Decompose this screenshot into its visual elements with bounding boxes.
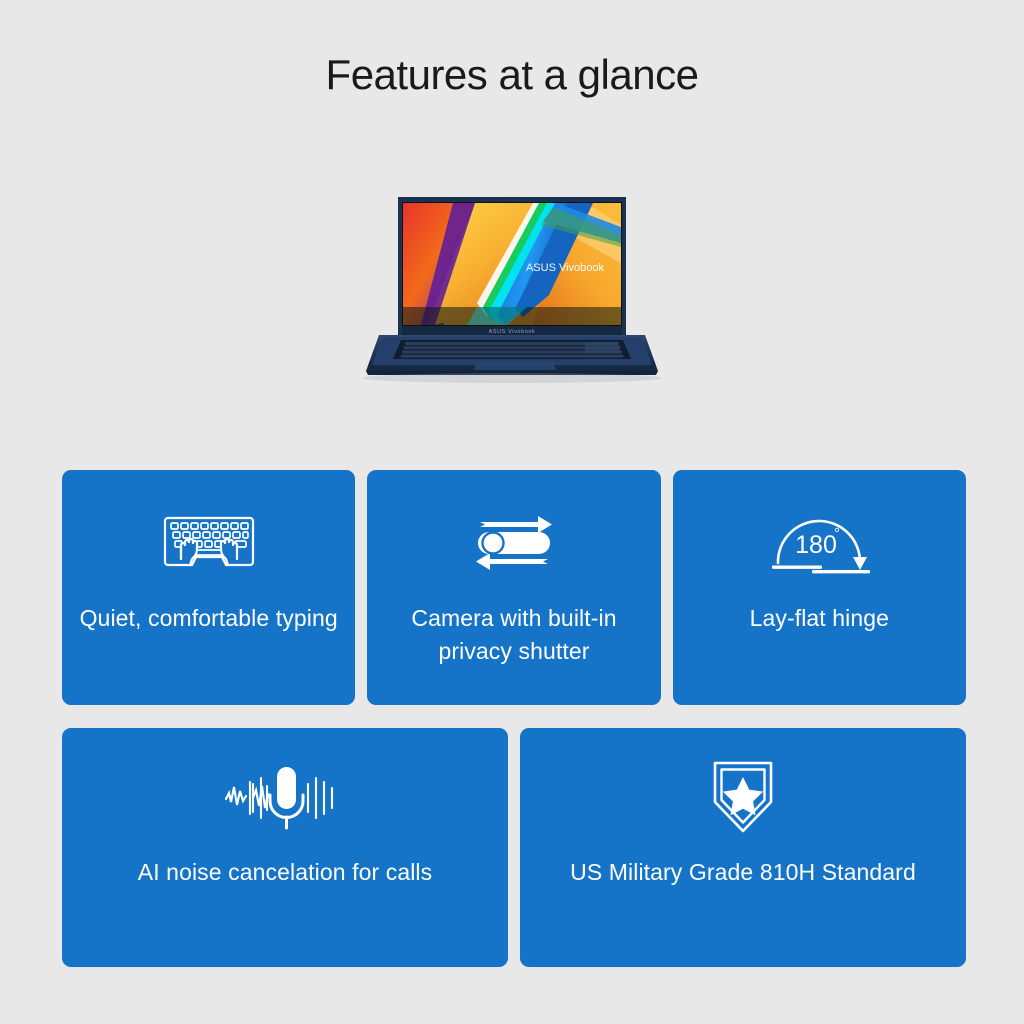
chin-brand-text: ASUS Vivobook <box>489 329 536 335</box>
feature-card-label: Quiet, comfortable typing <box>66 602 352 635</box>
camera-shutter-slider-icon <box>464 506 564 580</box>
shield-star-icon <box>706 760 780 834</box>
feature-card-label: US Military Grade 810H Standard <box>556 856 930 889</box>
feature-card-ai-noise-cancelation[interactable]: AI noise cancelation for calls <box>62 728 508 967</box>
laptop-svg: ASUS Vivobook ASUS Vivobook <box>357 185 667 390</box>
feature-card-military-grade[interactable]: US Military Grade 810H Standard <box>520 728 966 967</box>
laptop-illustration: ASUS Vivobook ASUS Vivobook <box>357 185 667 390</box>
feature-card-grid: Quiet, comfortable typing Camera with bu… <box>62 470 966 967</box>
feature-card-label: AI noise cancelation for calls <box>124 856 447 889</box>
feature-card-quiet-typing[interactable]: Quiet, comfortable typing <box>62 470 355 705</box>
feature-card-label: Lay-flat hinge <box>736 602 904 635</box>
keyboard-hands-icon <box>160 506 258 580</box>
feature-row-bottom: AI noise cancelation for calls US Milita… <box>62 728 966 967</box>
hinge-angle-value: 180 <box>795 531 837 559</box>
hinge-180-degree-icon: 180 ° <box>764 506 874 580</box>
feature-card-label: Camera with built-in privacy shutter <box>367 602 660 668</box>
page-title: Features at a glance <box>0 52 1024 98</box>
hero-product-image: ASUS Vivobook ASUS Vivobook <box>0 185 1024 400</box>
screen-brand-text: ASUS Vivobook <box>526 262 605 274</box>
feature-card-privacy-shutter[interactable]: Camera with built-in privacy shutter <box>367 470 660 705</box>
feature-card-lay-flat-hinge[interactable]: 180 ° Lay-flat hinge <box>673 470 966 705</box>
microphone-waveform-icon <box>220 760 350 834</box>
hinge-degree-symbol: ° <box>834 525 840 542</box>
feature-row-top: Quiet, comfortable typing Camera with bu… <box>62 470 966 705</box>
